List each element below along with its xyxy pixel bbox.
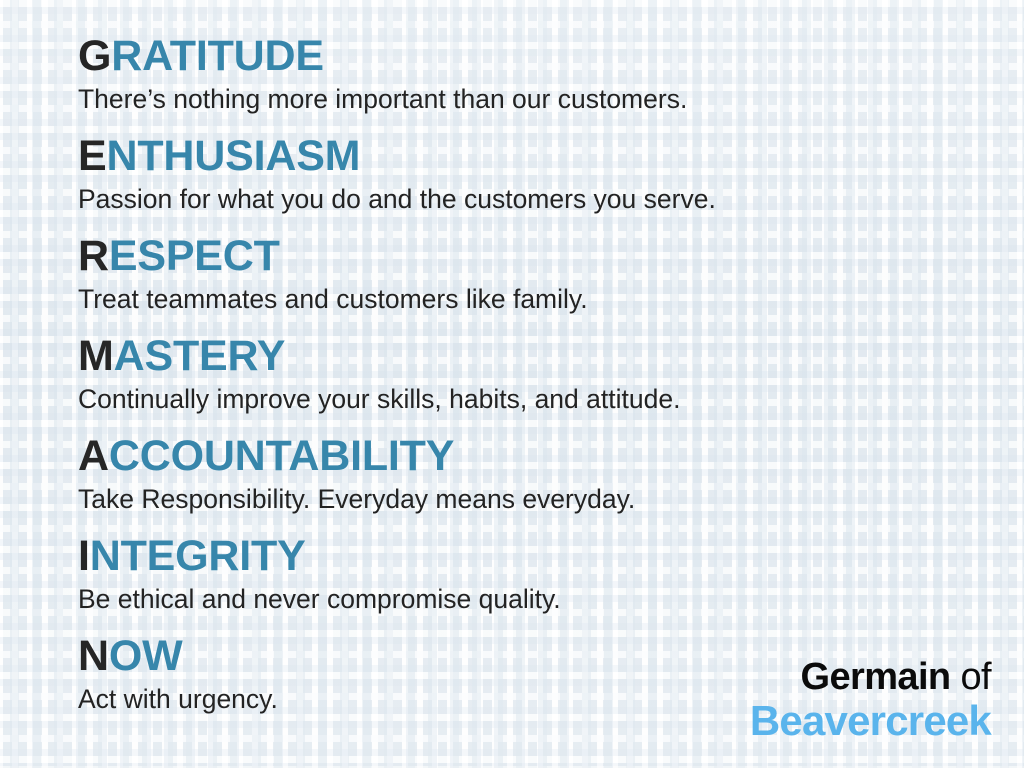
- value-initial-letter: N: [78, 632, 109, 680]
- value-initial-letter: I: [78, 532, 90, 580]
- value-item-accountability: ACCOUNTABILITY Take Responsibility. Ever…: [78, 432, 978, 532]
- value-description-gratitude: There’s nothing more important than our …: [78, 80, 978, 116]
- value-description-accountability: Take Responsibility. Everyday means ever…: [78, 480, 978, 516]
- value-heading-gratitude: GRATITUDE: [78, 32, 978, 80]
- value-description-respect: Treat teammates and customers like famil…: [78, 280, 978, 316]
- value-item-mastery: MASTERY Continually improve your skills,…: [78, 332, 978, 432]
- values-poster: GRATITUDE There’s nothing more important…: [0, 0, 1024, 768]
- value-description-integrity: Be ethical and never compromise quality.: [78, 580, 978, 616]
- value-remaining-letters: ASTERY: [114, 332, 286, 380]
- value-item-respect: RESPECT Treat teammates and customers li…: [78, 232, 978, 332]
- brand-connector: [951, 656, 961, 698]
- value-initial-letter: A: [78, 432, 109, 480]
- brand-location: Beavercreek: [750, 698, 991, 744]
- brand-connector-word: of: [961, 656, 992, 698]
- value-initial-letter: M: [78, 332, 114, 380]
- value-initial-letter: E: [78, 132, 106, 180]
- value-item-enthusiasm: ENTHUSIASM Passion for what you do and t…: [78, 132, 978, 232]
- value-description-mastery: Continually improve your skills, habits,…: [78, 380, 978, 416]
- value-remaining-letters: OW: [109, 632, 183, 680]
- value-heading-accountability: ACCOUNTABILITY: [78, 432, 978, 480]
- value-remaining-letters: NTHUSIASM: [106, 132, 360, 180]
- core-values-list: GRATITUDE There’s nothing more important…: [78, 32, 978, 732]
- value-initial-letter: R: [78, 232, 109, 280]
- value-item-gratitude: GRATITUDE There’s nothing more important…: [78, 32, 978, 132]
- brand-logo: Germain of Beavercreek: [750, 656, 991, 744]
- value-heading-integrity: INTEGRITY: [78, 532, 978, 580]
- value-heading-respect: RESPECT: [78, 232, 978, 280]
- value-heading-mastery: MASTERY: [78, 332, 978, 380]
- value-remaining-letters: NTEGRITY: [90, 532, 306, 580]
- value-description-enthusiasm: Passion for what you do and the customer…: [78, 180, 978, 216]
- brand-dealer-name-line: Germain of: [750, 656, 991, 698]
- value-initial-letter: G: [78, 32, 111, 80]
- brand-dealer-name: Germain: [801, 656, 951, 698]
- value-heading-enthusiasm: ENTHUSIASM: [78, 132, 978, 180]
- value-remaining-letters: ESPECT: [109, 232, 280, 280]
- value-remaining-letters: RATITUDE: [111, 32, 324, 80]
- value-item-integrity: INTEGRITY Be ethical and never compromis…: [78, 532, 978, 632]
- value-remaining-letters: CCOUNTABILITY: [109, 432, 454, 480]
